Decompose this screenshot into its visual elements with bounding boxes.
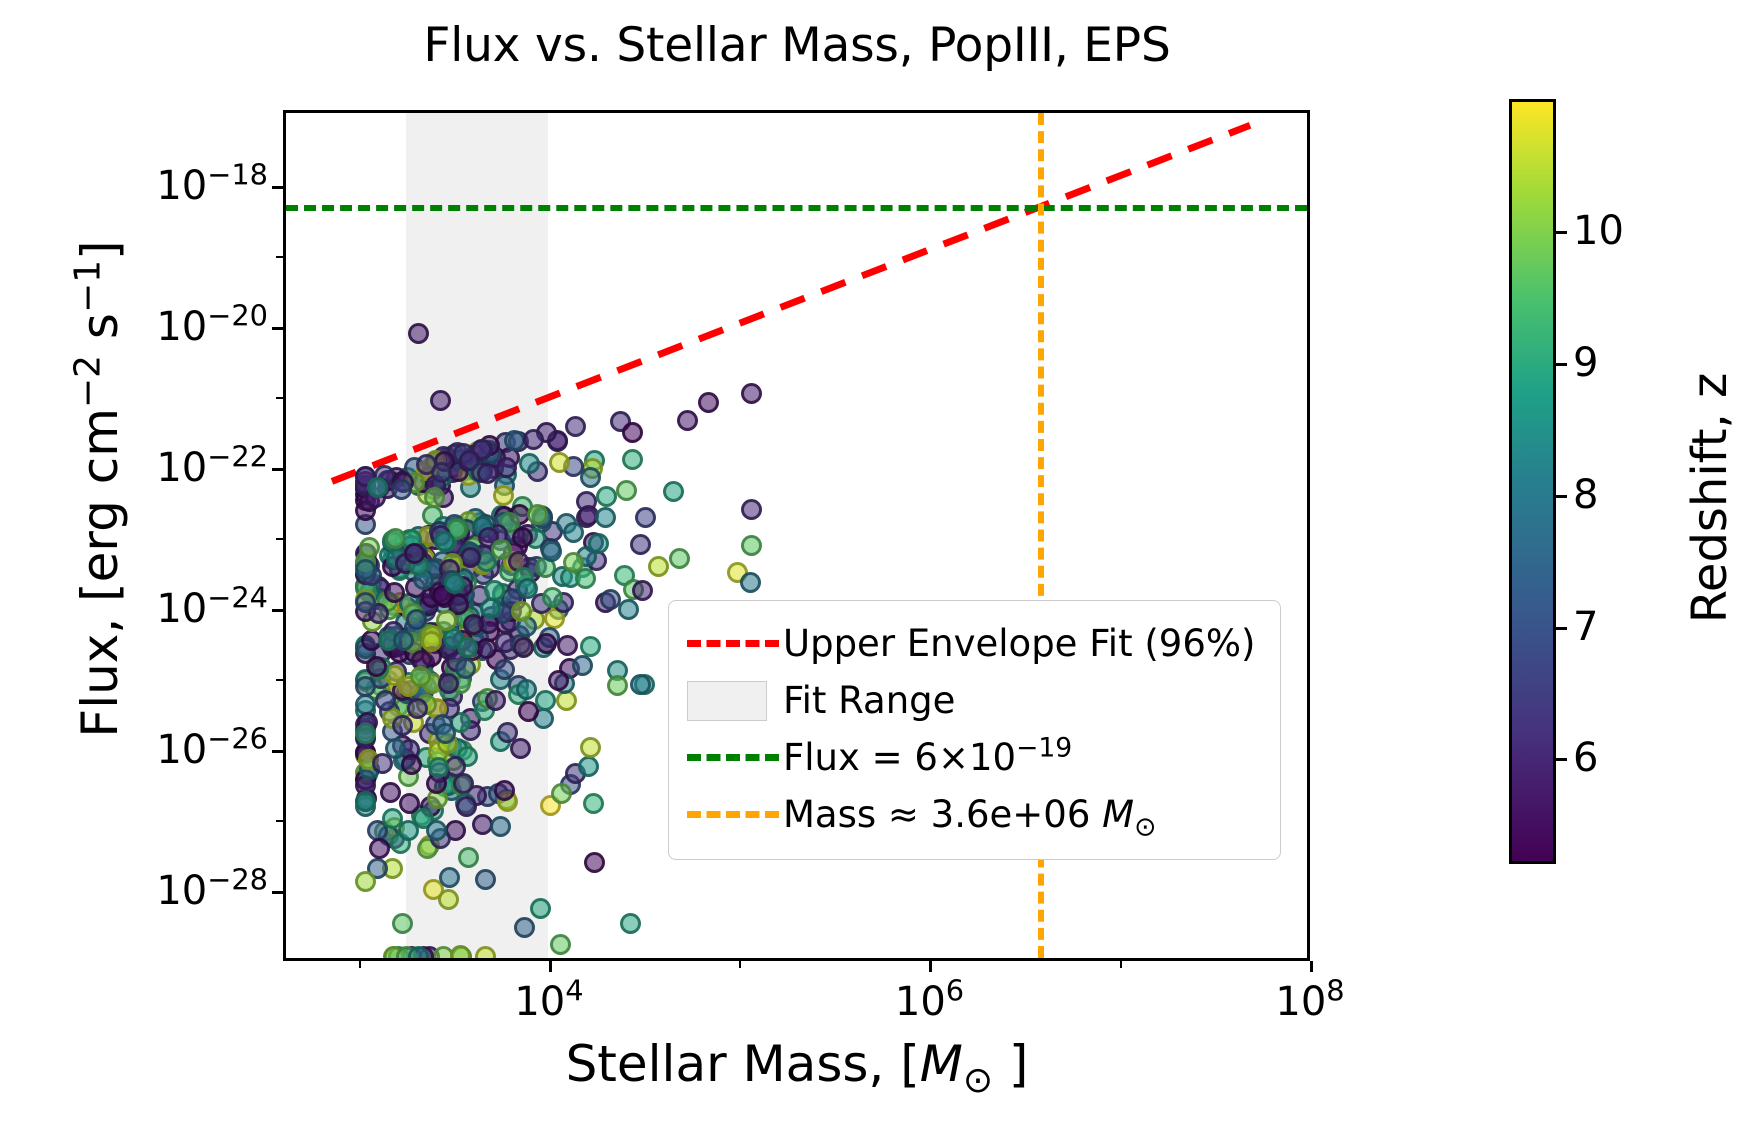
y-axis-tick-label-3: 10−24 — [110, 586, 268, 632]
x-axis-label: Stellar Mass, [M⊙ ] — [283, 1035, 1311, 1093]
x-axis-tick-label-1: 106 — [895, 979, 964, 1025]
colorbar-label: Redshift, z — [1682, 218, 1738, 778]
scatter-point — [426, 820, 447, 841]
colorbar-tick-2 — [1556, 495, 1567, 498]
scatter-point — [663, 481, 684, 502]
scatter-point — [450, 945, 471, 958]
y-axis-minor-tick-3 — [276, 679, 283, 681]
scatter-point — [485, 690, 506, 711]
scatter-point — [542, 587, 563, 608]
y-axis-tick-1 — [272, 327, 283, 330]
y-axis-tick-label-4: 10−26 — [110, 727, 268, 773]
scatter-point — [514, 917, 535, 938]
colorbar-tick-label-4: 10 — [1573, 208, 1624, 254]
scatter-point — [404, 543, 425, 564]
y-axis-minor-tick-0 — [276, 256, 283, 258]
colorbar-tick-label-0: 6 — [1573, 735, 1598, 781]
scatter-point — [408, 946, 429, 958]
scatter-point — [635, 507, 656, 528]
scatter-point — [494, 780, 515, 801]
scatter-point — [355, 592, 376, 613]
scatter-point — [493, 485, 514, 506]
scatter-point — [435, 723, 456, 744]
scatter-point — [444, 573, 465, 594]
scatter-point — [622, 449, 643, 470]
legend-entry-flux-threshold[interactable]: Flux = 6×10−19 — [687, 729, 1262, 786]
scatter-point — [393, 630, 414, 651]
legend-label-upper-envelope-fit: Upper Envelope Fit (96%) — [783, 622, 1255, 665]
colorbar-tick-0 — [1556, 758, 1567, 761]
scatter-point — [430, 390, 451, 411]
figure-canvas: Flux vs. Stellar Mass, PopIII, EPS 10410… — [0, 0, 1739, 1148]
chart-title: Flux vs. Stellar Mass, PopIII, EPS — [283, 18, 1311, 73]
scatter-point — [536, 633, 557, 654]
scatter-point — [630, 534, 651, 555]
x-axis-tick-0 — [549, 961, 552, 972]
y-axis-tick-3 — [272, 609, 283, 612]
x-axis-label-sub: ⊙ — [963, 1060, 993, 1101]
scatter-point — [622, 422, 643, 443]
legend-label-flux-pre: Flux = 6×10 — [783, 736, 1016, 779]
y-axis-minor-tick-1 — [276, 397, 283, 399]
scatter-point — [355, 871, 376, 892]
colorbar-tick-label-1: 7 — [1573, 604, 1598, 650]
x-axis-tick-1 — [929, 961, 932, 972]
scatter-point — [677, 410, 698, 431]
x-axis-label-post: ] — [993, 1035, 1028, 1093]
scatter-point — [523, 429, 544, 450]
scatter-point — [434, 531, 455, 552]
scatter-point — [557, 635, 578, 656]
scatter-point — [620, 913, 641, 934]
scatter-point — [392, 913, 413, 934]
scatter-point — [460, 547, 481, 568]
y-axis-tick-label-2: 10−22 — [110, 445, 268, 491]
y-axis-label-exp2: −1 — [67, 260, 108, 313]
scatter-point — [630, 674, 651, 695]
x-axis-label-math: M — [920, 1035, 963, 1093]
colorbar-tick-label-3: 9 — [1573, 340, 1598, 386]
scatter-point — [512, 527, 533, 548]
y-axis-tick-4 — [272, 750, 283, 753]
scatter-point — [439, 867, 460, 888]
scatter-point — [490, 816, 511, 837]
legend-marker-dashed-red — [687, 640, 783, 647]
scatter-point — [457, 637, 478, 658]
scatter-point — [698, 392, 719, 413]
scatter-point — [458, 847, 479, 868]
scatter-point — [359, 537, 380, 558]
y-axis-tick-label-0: 10−18 — [110, 163, 268, 209]
legend-label-mass-threshold: Mass ≈ 3.6e+06 M⊙ — [783, 793, 1156, 836]
y-axis-tick-5 — [272, 891, 283, 894]
x-axis-tick-label-0: 104 — [514, 979, 583, 1025]
scatter-point — [494, 659, 515, 680]
legend-box[interactable]: Upper Envelope Fit (96%) Fit Range Flux … — [668, 600, 1281, 860]
x-axis-label-pre: Stellar Mass, [ — [566, 1035, 920, 1093]
scatter-point — [424, 487, 445, 508]
scatter-point — [511, 601, 532, 622]
y-axis-label-post: ] — [71, 240, 129, 260]
scatter-point — [530, 898, 551, 919]
legend-entry-fit-range[interactable]: Fit Range — [687, 672, 1262, 729]
scatter-point — [584, 852, 605, 873]
y-axis-tick-label-5: 10−28 — [110, 868, 268, 914]
y-axis-tick-label-1: 10−20 — [110, 304, 268, 350]
scatter-point — [496, 457, 517, 478]
scatter-point — [580, 636, 601, 657]
y-axis-tick-0 — [272, 186, 283, 189]
colorbar-tick-3 — [1556, 363, 1567, 366]
scatter-point — [438, 889, 459, 910]
legend-entry-mass-threshold[interactable]: Mass ≈ 3.6e+06 M⊙ — [687, 786, 1262, 843]
legend-marker-patch-gray — [687, 681, 783, 721]
scatter-point — [669, 548, 690, 569]
scatter-point — [455, 658, 476, 679]
y-axis-minor-tick-2 — [276, 538, 283, 540]
scatter-point — [456, 796, 477, 817]
scatter-point — [648, 556, 669, 577]
scatter-point — [369, 838, 390, 859]
legend-label-flux-threshold: Flux = 6×10−19 — [783, 736, 1072, 779]
colorbar[interactable] — [1509, 99, 1556, 864]
y-axis-minor-tick-4 — [276, 820, 283, 822]
y-axis-label-mid: s — [71, 313, 129, 355]
scatter-point — [632, 580, 653, 601]
scatter-point — [436, 610, 457, 631]
y-axis-label-pre: Flux, [erg cm — [71, 408, 129, 738]
scatter-point — [618, 599, 639, 620]
scatter-point — [551, 783, 572, 804]
scatter-point — [497, 722, 518, 743]
scatter-point — [575, 568, 596, 589]
flux-threshold-line — [286, 205, 1307, 211]
scatter-point — [367, 477, 388, 498]
scatter-point — [580, 737, 601, 758]
x-axis-tick-label-2: 108 — [1275, 979, 1344, 1025]
legend-entry-upper-envelope-fit[interactable]: Upper Envelope Fit (96%) — [687, 615, 1262, 672]
legend-label-mass-math: M — [1102, 793, 1134, 836]
scatter-point — [375, 690, 396, 711]
legend-label-mass-sub: ⊙ — [1134, 811, 1156, 842]
y-axis-label-exp1: −2 — [67, 355, 108, 408]
colorbar-tick-1 — [1556, 627, 1567, 630]
scatter-point — [565, 416, 586, 437]
legend-marker-dashed-green — [687, 754, 783, 761]
scatter-point — [596, 486, 617, 507]
scatter-point — [517, 578, 538, 599]
legend-label-fit-range: Fit Range — [783, 679, 955, 722]
scatter-point — [519, 453, 540, 474]
colorbar-tick-4 — [1556, 231, 1567, 234]
colorbar-tick-label-2: 8 — [1573, 472, 1598, 518]
y-axis-label: Flux, [erg cm−2 s−1] — [71, 89, 129, 889]
scatter-point — [477, 463, 498, 484]
scatter-point — [355, 791, 376, 812]
legend-label-flux-exp: −19 — [1016, 733, 1072, 764]
scatter-point — [513, 637, 534, 658]
scatter-point — [421, 631, 442, 652]
scatter-point — [410, 666, 431, 687]
scatter-point — [548, 670, 569, 691]
scatter-point — [550, 934, 571, 955]
scatter-point — [463, 614, 484, 635]
scatter-point — [355, 676, 376, 697]
legend-marker-dashed-orange — [687, 811, 783, 818]
x-axis-minor-tick-2 — [1120, 961, 1122, 968]
x-axis-minor-tick-1 — [739, 961, 741, 968]
y-axis-tick-2 — [272, 468, 283, 471]
x-axis-tick-2 — [1310, 961, 1313, 972]
x-axis-minor-tick-0 — [359, 961, 361, 968]
scatter-point — [595, 507, 616, 528]
legend-label-mass-pre: Mass ≈ 3.6e+06 — [783, 793, 1102, 836]
scatter-point — [438, 673, 459, 694]
scatter-point — [480, 598, 501, 619]
